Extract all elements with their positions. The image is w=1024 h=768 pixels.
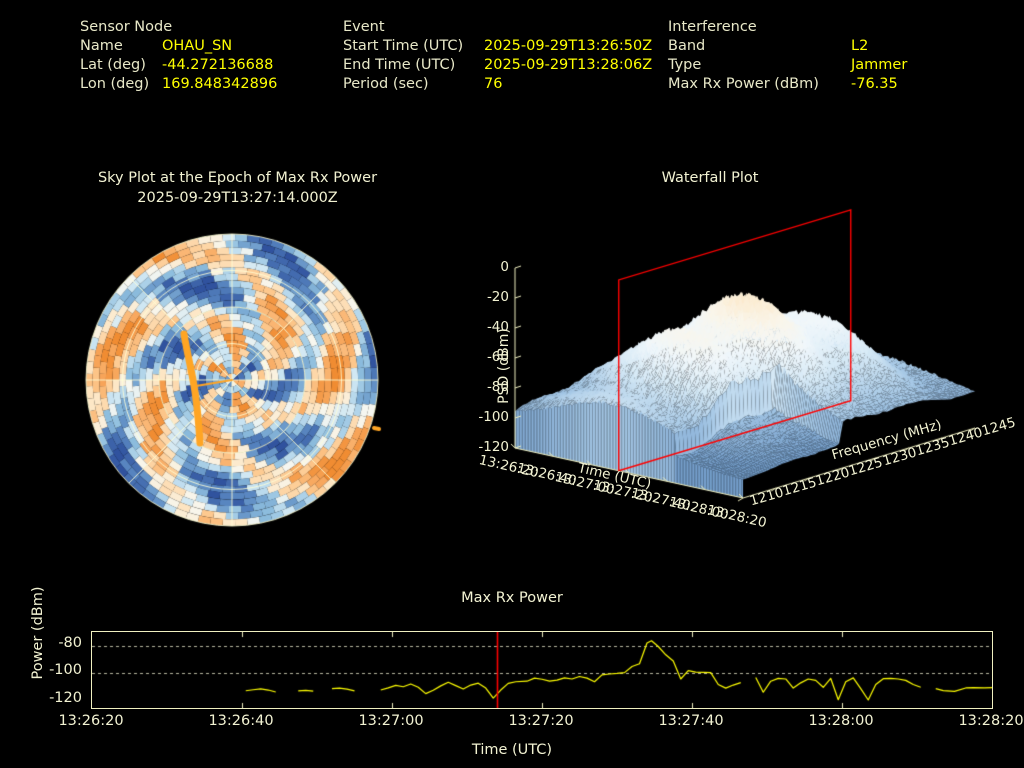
event-value-period: 76 bbox=[484, 75, 502, 94]
interference-row-band: Band L2 bbox=[668, 37, 907, 56]
sensor-node-label-name: Name bbox=[80, 37, 162, 56]
event-label-end-time: End Time (UTC) bbox=[343, 56, 484, 75]
interference-value-type: Jammer bbox=[851, 56, 907, 75]
sensor-node-label-lon: Lon (deg) bbox=[80, 75, 162, 94]
waterfall-ztick: -40 bbox=[467, 319, 509, 335]
waterfall-ztick: -60 bbox=[467, 349, 509, 365]
sky-plot-title: Sky Plot at the Epoch of Max Rx Power 20… bbox=[35, 168, 440, 208]
sensor-node-value-lon: 169.848342896 bbox=[162, 75, 277, 94]
sensor-node-row-lon: Lon (deg) 169.848342896 bbox=[80, 75, 277, 94]
max-rx-power-xtick: 13:26:40 bbox=[181, 713, 301, 729]
sky-plot-title-line2: 2025-09-29T13:27:14.000Z bbox=[35, 188, 440, 208]
interference-value-max-rx-power: -76.35 bbox=[851, 75, 898, 94]
waterfall-panel: Waterfall Plot PSD (dBm) 0-20-40-60-80-1… bbox=[430, 168, 1024, 558]
max-rx-power-xtick: 13:27:40 bbox=[631, 713, 751, 729]
sky-plot-canvas bbox=[82, 230, 382, 530]
waterfall-ztick: -100 bbox=[467, 409, 509, 425]
max-rx-power-xtick: 13:28:00 bbox=[781, 713, 901, 729]
sensor-node-block: Sensor Node Name OHAU_SN Lat (deg) -44.2… bbox=[80, 18, 277, 94]
event-value-start-time: 2025-09-29T13:26:50Z bbox=[484, 37, 652, 56]
interference-value-band: L2 bbox=[851, 37, 868, 56]
interference-row-max-rx-power: Max Rx Power (dBm) -76.35 bbox=[668, 75, 907, 94]
max-rx-power-title: Max Rx Power bbox=[0, 588, 1024, 608]
waterfall-ztick: -80 bbox=[467, 379, 509, 395]
event-label-start-time: Start Time (UTC) bbox=[343, 37, 484, 56]
interference-block: Interference Band L2 Type Jammer Max Rx … bbox=[668, 18, 907, 94]
max-rx-power-xtick: 13:28:20 bbox=[931, 713, 1024, 729]
max-rx-power-xlabel: Time (UTC) bbox=[0, 742, 1024, 758]
waterfall-ztick: -120 bbox=[467, 439, 509, 455]
sensor-node-row-name: Name OHAU_SN bbox=[80, 37, 277, 56]
event-row-end-time: End Time (UTC) 2025-09-29T13:28:06Z bbox=[343, 56, 652, 75]
waterfall-canvas-wrapper: PSD (dBm) 0-20-40-60-80-100-12013:26:201… bbox=[430, 198, 1024, 558]
event-title: Event bbox=[343, 18, 652, 37]
sensor-node-label-lat: Lat (deg) bbox=[80, 56, 162, 75]
app-root: Sensor Node Name OHAU_SN Lat (deg) -44.2… bbox=[0, 0, 1024, 768]
event-block: Event Start Time (UTC) 2025-09-29T13:26:… bbox=[343, 18, 652, 94]
max-rx-power-canvas bbox=[92, 632, 992, 708]
sky-plot-panel: Sky Plot at the Epoch of Max Rx Power 20… bbox=[35, 168, 440, 558]
sensor-node-value-name: OHAU_SN bbox=[162, 37, 232, 56]
sensor-node-row-lat: Lat (deg) -44.272136688 bbox=[80, 56, 277, 75]
max-rx-power-ylabel: Power (dBm) bbox=[30, 553, 46, 713]
event-row-period: Period (sec) 76 bbox=[343, 75, 652, 94]
interference-title: Interference bbox=[668, 18, 907, 37]
max-rx-power-ytick: -120 bbox=[20, 690, 82, 706]
event-value-end-time: 2025-09-29T13:28:06Z bbox=[484, 56, 652, 75]
max-rx-power-xtick: 13:26:20 bbox=[31, 713, 151, 729]
interference-label-max-rx-power: Max Rx Power (dBm) bbox=[668, 75, 851, 94]
waterfall-canvas bbox=[430, 198, 1024, 558]
waterfall-ztick: -20 bbox=[467, 289, 509, 305]
interference-label-band: Band bbox=[668, 37, 851, 56]
max-rx-power-xtick: 13:27:00 bbox=[331, 713, 451, 729]
event-label-period: Period (sec) bbox=[343, 75, 484, 94]
max-rx-power-xtick: 13:27:20 bbox=[481, 713, 601, 729]
waterfall-title: Waterfall Plot bbox=[430, 168, 990, 188]
waterfall-ztick: 0 bbox=[467, 259, 509, 275]
sensor-node-value-lat: -44.272136688 bbox=[162, 56, 273, 75]
interference-row-type: Type Jammer bbox=[668, 56, 907, 75]
interference-label-type: Type bbox=[668, 56, 851, 75]
metadata-header: Sensor Node Name OHAU_SN Lat (deg) -44.2… bbox=[0, 0, 1024, 110]
sensor-node-title: Sensor Node bbox=[80, 18, 277, 37]
max-rx-power-plot-area bbox=[91, 631, 993, 709]
sky-plot-title-line1: Sky Plot at the Epoch of Max Rx Power bbox=[35, 168, 440, 188]
max-rx-power-ytick: -100 bbox=[20, 662, 82, 678]
event-row-start-time: Start Time (UTC) 2025-09-29T13:26:50Z bbox=[343, 37, 652, 56]
max-rx-power-panel: Max Rx Power Power (dBm) -80-100-120 13:… bbox=[0, 585, 1024, 768]
sky-plot-canvas-wrapper bbox=[82, 230, 382, 530]
max-rx-power-ytick: -80 bbox=[20, 635, 82, 651]
